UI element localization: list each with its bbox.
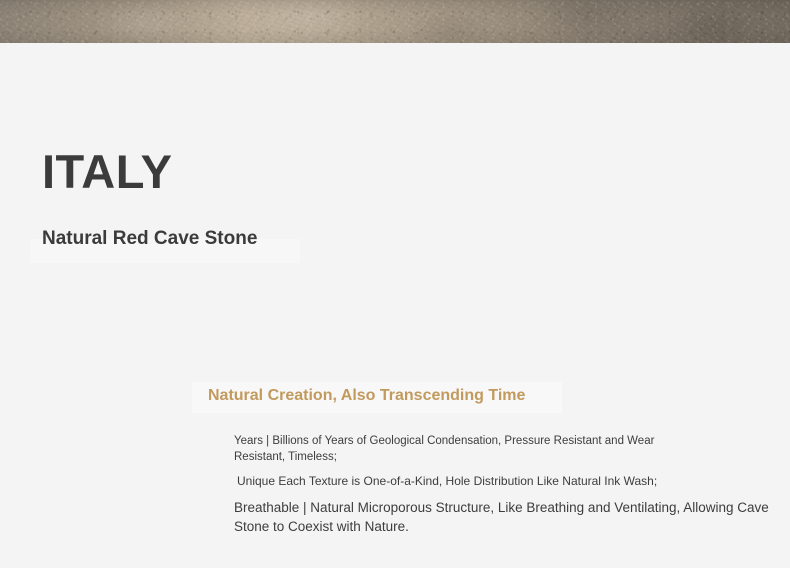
stone-vignette [0, 0, 790, 43]
feature-item-years: Years | Billions of Years of Geological … [234, 433, 659, 466]
stone-texture-band [0, 0, 790, 43]
product-detail-page: { "banner": { "name": "stone-texture-ban… [0, 0, 790, 568]
feature-accent-heading: Natural Creation, Also Transcending Time [208, 386, 768, 407]
page-title: ITALY [42, 148, 257, 195]
feature-item-unique: Unique Each Texture is One-of-a-Kind, Ho… [237, 473, 667, 490]
feature-block: Natural Creation, Also Transcending Time… [208, 386, 768, 543]
hero-block: ITALY Natural Red Cave Stone [42, 148, 257, 251]
feature-item-breathable: Breathable | Natural Microporous Structu… [234, 498, 774, 536]
page-subtitle: Natural Red Cave Stone [42, 228, 257, 251]
hero-subtitle-wrap: Natural Red Cave Stone [42, 228, 257, 251]
feature-list: Years | Billions of Years of Geological … [234, 433, 768, 536]
